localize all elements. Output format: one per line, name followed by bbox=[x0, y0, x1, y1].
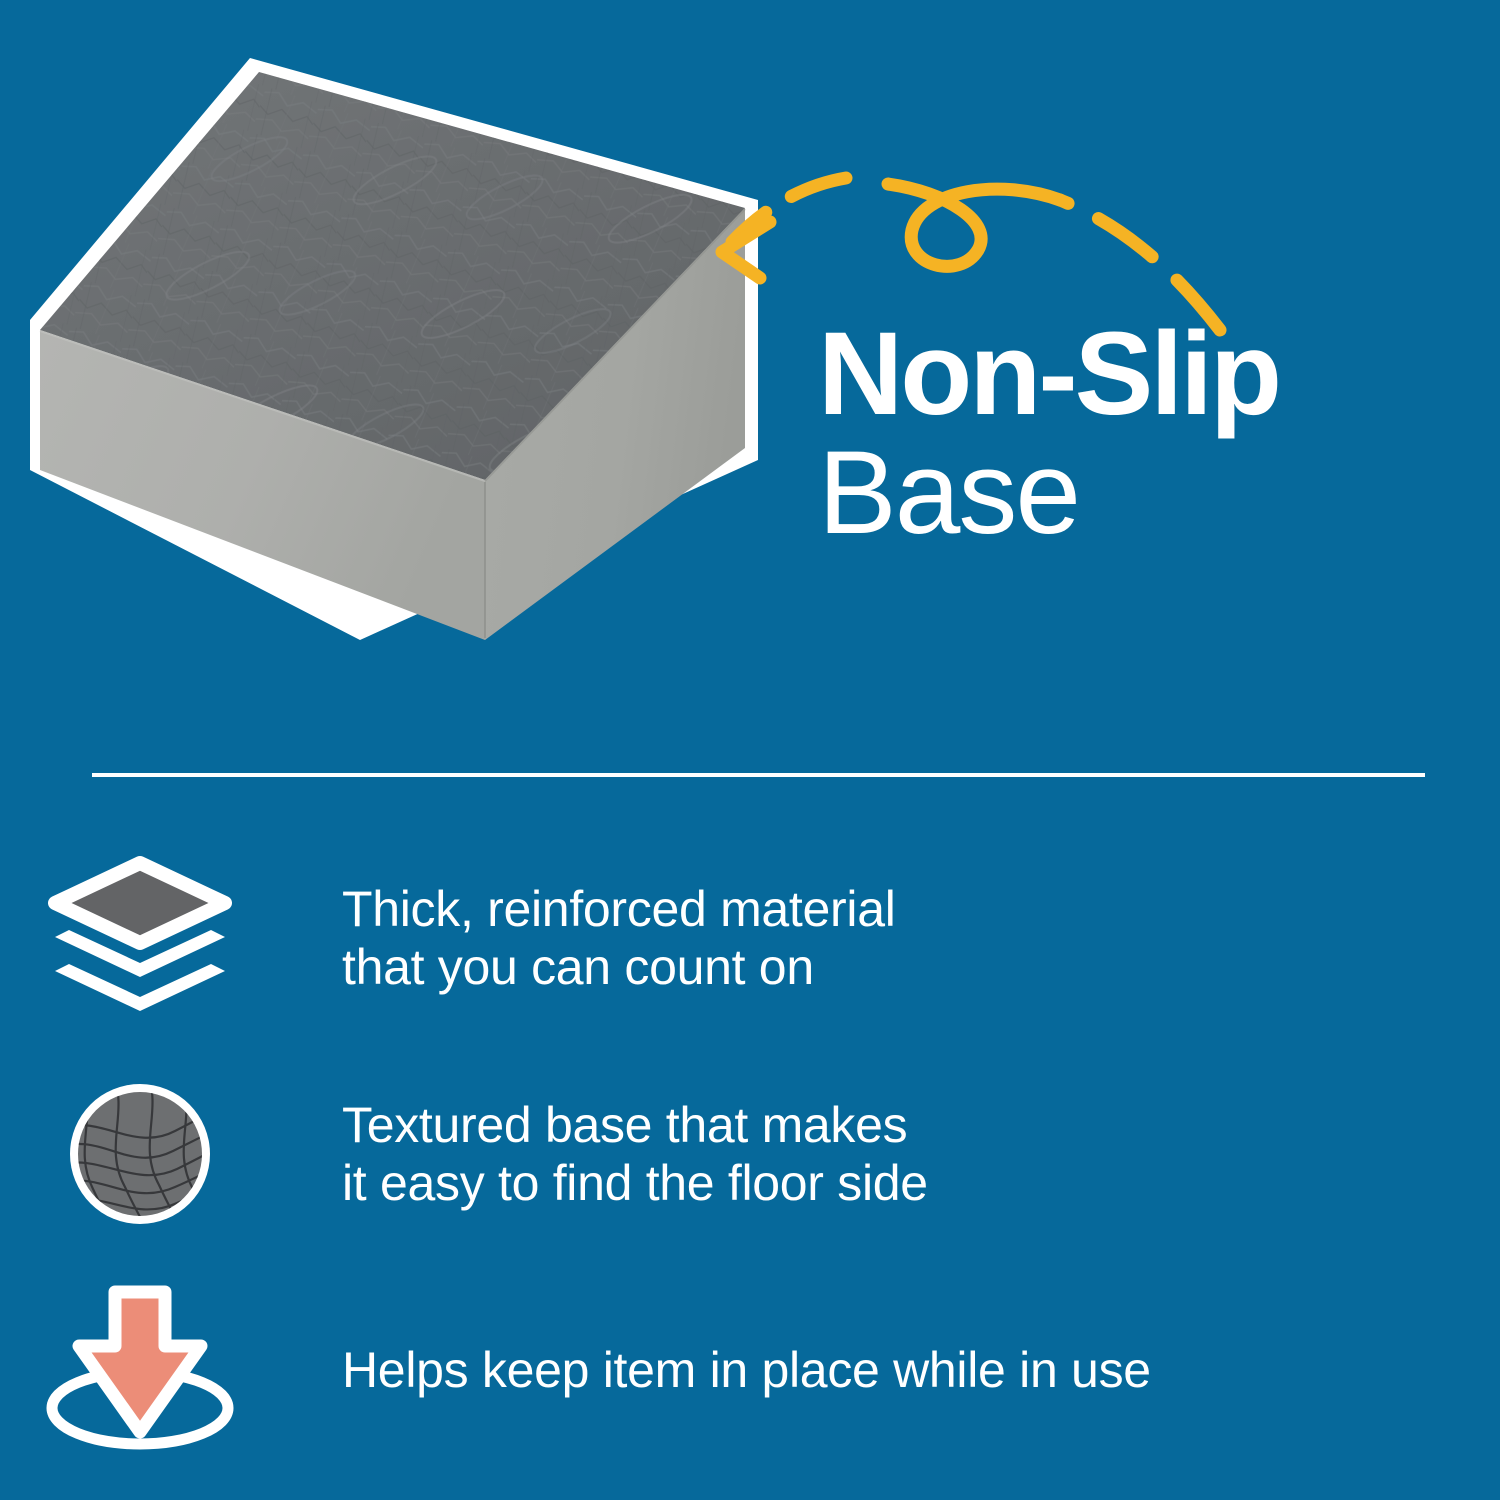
feature-icon-slot bbox=[0, 1069, 280, 1239]
feature-row: Helps keep item in place while in use bbox=[0, 1270, 1500, 1470]
feature-row: Thick, reinforced material that you can … bbox=[0, 838, 1500, 1038]
stacked-layers-icon bbox=[45, 853, 235, 1023]
feature-list: Thick, reinforced material that you can … bbox=[0, 838, 1500, 1486]
feature-icon-slot bbox=[0, 1280, 280, 1460]
product-infographic: Non-Slip Base Thick, reinforced material… bbox=[0, 0, 1500, 1500]
headline-line-1: Non-Slip bbox=[818, 318, 1458, 431]
feature-row: Textured base that makes it easy to find… bbox=[0, 1054, 1500, 1254]
product-hero-image bbox=[0, 0, 800, 740]
isometric-box-illustration bbox=[0, 0, 800, 740]
textured-circle-icon bbox=[55, 1069, 225, 1239]
feature-text: Thick, reinforced material that you can … bbox=[280, 880, 896, 997]
feature-icon-slot bbox=[0, 853, 280, 1023]
feature-text: Textured base that makes it easy to find… bbox=[280, 1096, 928, 1213]
headline-line-2: Base bbox=[818, 437, 1458, 550]
down-arrow-in-ellipse-icon bbox=[35, 1280, 245, 1460]
page-title: Non-Slip Base bbox=[818, 318, 1458, 551]
section-divider bbox=[92, 773, 1425, 777]
feature-text: Helps keep item in place while in use bbox=[280, 1341, 1151, 1400]
